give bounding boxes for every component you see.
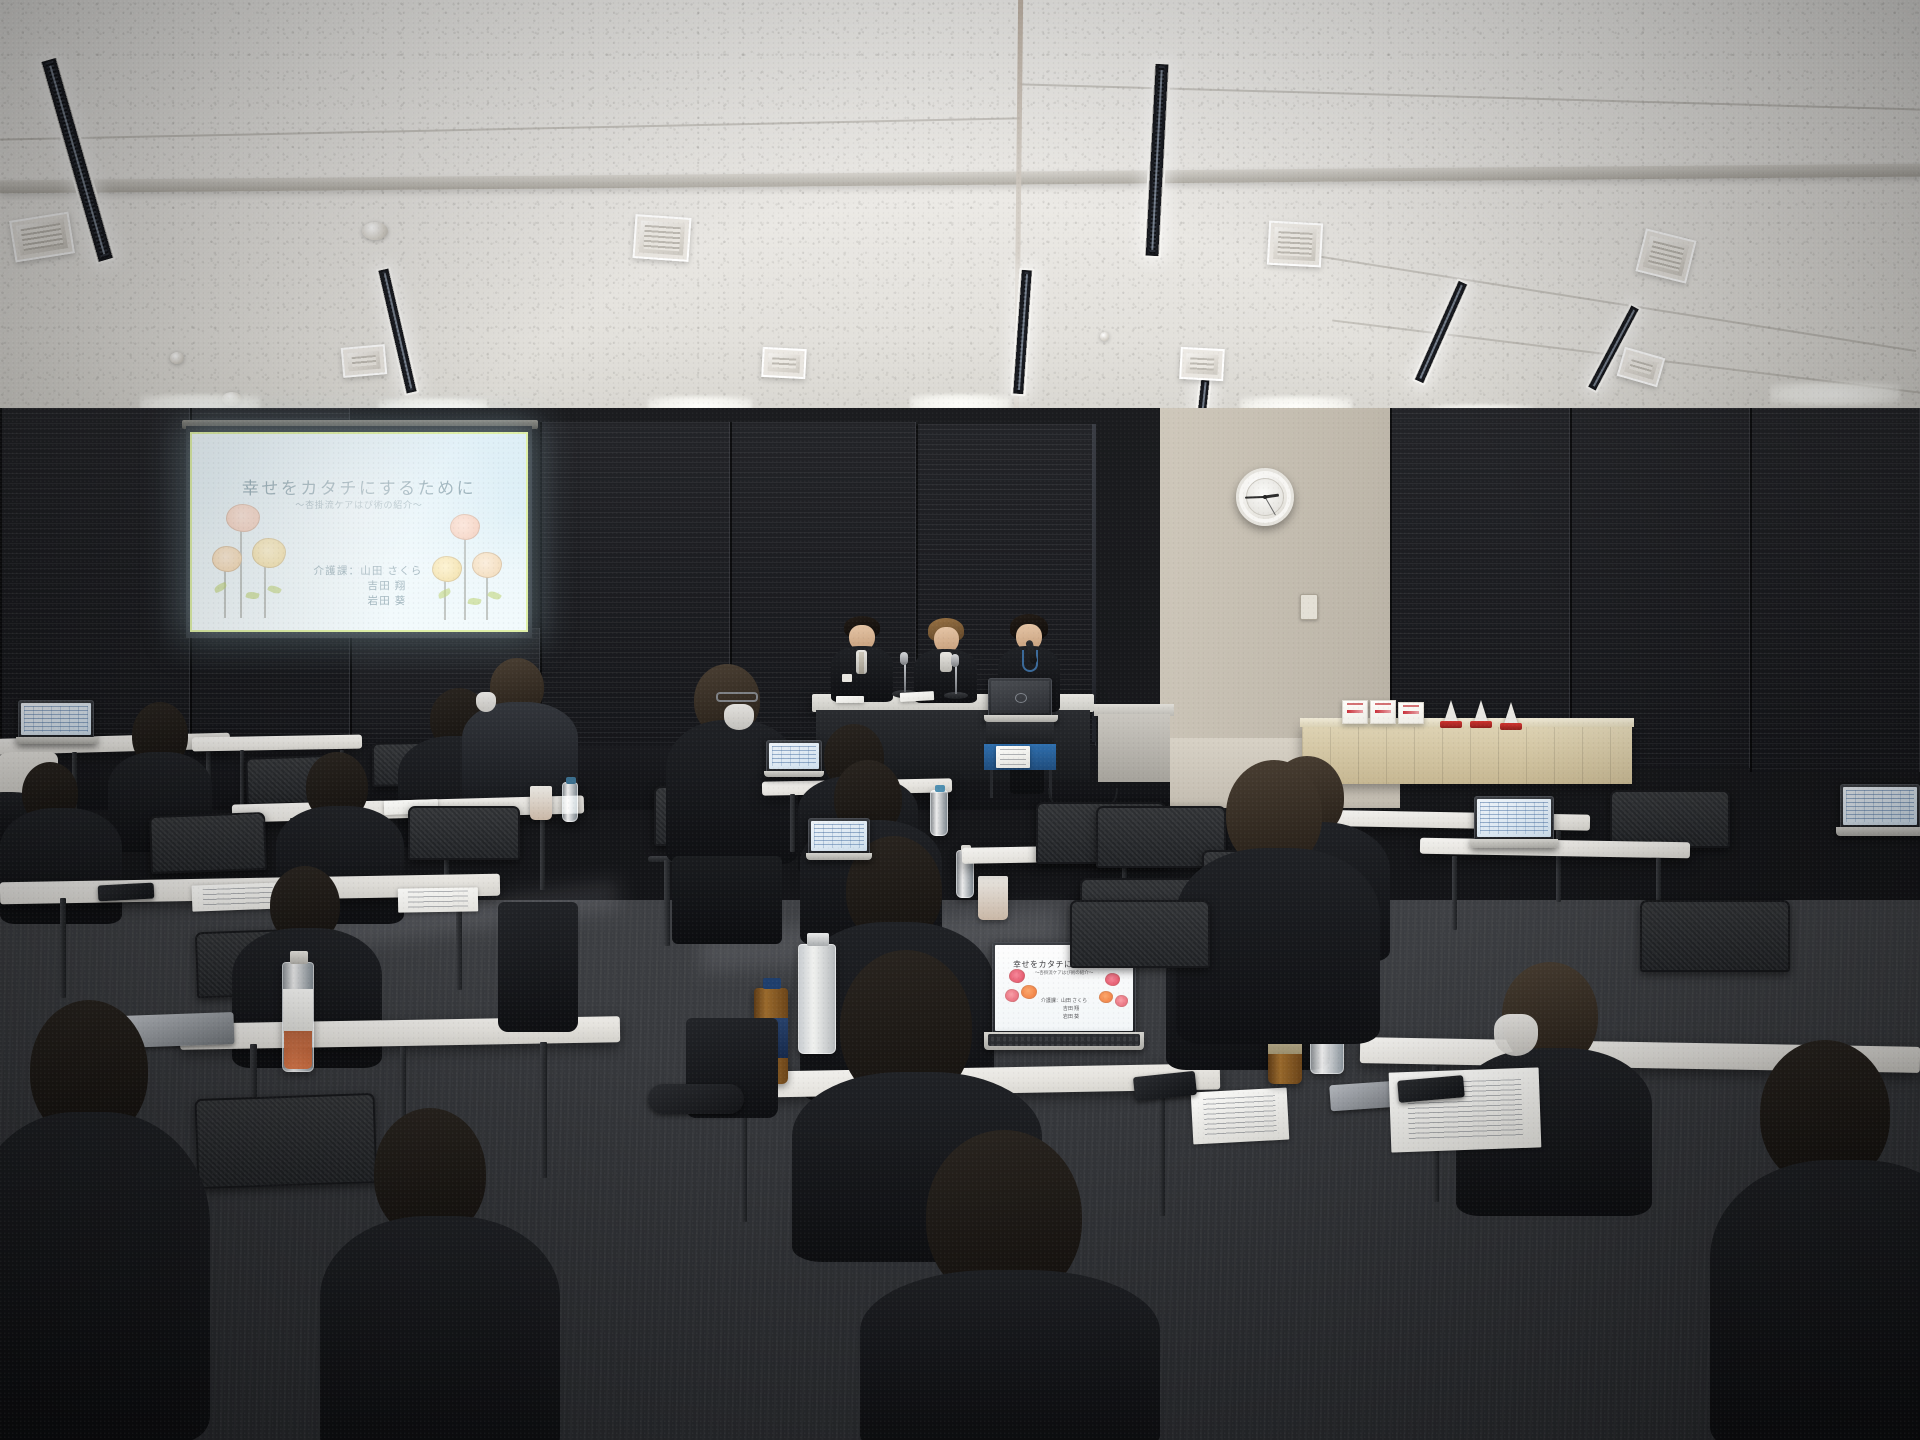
attendee-chair (1640, 900, 1790, 972)
laptop-screen (1843, 787, 1917, 825)
laptop-screen-spreadsheet (21, 703, 91, 735)
laptop-screen-spreadsheet (1477, 799, 1551, 837)
attendee-laptop (806, 818, 872, 860)
laptop-base (16, 737, 98, 744)
laptop-slide-rose (1099, 991, 1113, 1003)
table-leg (60, 898, 66, 998)
laptop-stand-box (986, 722, 1054, 746)
trophy-base (1500, 723, 1522, 730)
flower-bloom-pink (226, 504, 260, 532)
laptop-base (1836, 827, 1920, 836)
hp-logo (1015, 693, 1027, 703)
face-mask (724, 704, 754, 730)
side-counter-body (1098, 714, 1170, 782)
laptop-lid (1840, 784, 1920, 828)
bottle-cap (566, 777, 576, 784)
table-leg (240, 750, 244, 812)
conference-room-photo: 幸せをカタチにするために ～杏掛流ケアはぴ術の紹介～ 介護課：山田 さくら 吉田… (0, 0, 1920, 1440)
flower-leaf (467, 597, 481, 607)
laptop-screen (811, 821, 867, 851)
panel-handout (900, 691, 934, 702)
lanyard-badge (842, 674, 852, 682)
certificate-ribbon (1403, 711, 1420, 714)
flower-leaf (487, 589, 502, 601)
microphone-head (900, 652, 908, 665)
laptop-slide-rose (1115, 995, 1128, 1007)
laptop-slide-rose (1021, 985, 1037, 999)
attendee-chair (1070, 900, 1210, 968)
cable-on-floor (648, 1084, 744, 1114)
handout-paper (398, 887, 478, 912)
attendee-chair (408, 806, 520, 860)
bottle-label (283, 989, 313, 1033)
water-bottle (562, 782, 578, 822)
stand-document (996, 746, 1030, 768)
bottle-cap (807, 933, 829, 946)
sprinkler-head (1100, 332, 1109, 341)
flower-bloom-pink (450, 514, 480, 540)
table-leg (790, 794, 795, 852)
laptop-lid (1474, 796, 1554, 840)
attendee-laptop-right (1470, 796, 1558, 848)
necktie (859, 652, 864, 674)
flower-leaf (213, 582, 228, 593)
award-certificate (1342, 700, 1368, 724)
flower-bloom-peach (472, 552, 502, 578)
laptop-slide-rose (1105, 973, 1120, 986)
certificate-ribbon (1347, 710, 1364, 713)
hvac-diffuser (633, 214, 692, 262)
laptop-lid (988, 678, 1052, 716)
presenter-laptop (984, 678, 1058, 722)
table-leg (1452, 856, 1457, 930)
microphone-stand (955, 664, 957, 694)
wall-slat-panel (1570, 408, 1750, 768)
eyeglasses-case (98, 883, 155, 902)
attendee-chair (1610, 790, 1730, 848)
plastic-drink-bottle (282, 962, 314, 1072)
trophy-cone (1474, 700, 1488, 722)
attendee-laptop (16, 700, 98, 744)
flower-leaf (245, 591, 259, 601)
ceiling-light-glow (1770, 382, 1900, 406)
hvac-diffuser (761, 347, 807, 379)
hvac-diffuser (1267, 221, 1323, 268)
attendee-foreground-center-2 (880, 1130, 1140, 1440)
laptop-base (1470, 839, 1558, 848)
backpack-on-floor (498, 902, 578, 1032)
laptop-base (806, 853, 872, 860)
wall-clock (1236, 468, 1294, 526)
light-switch-plate (1300, 594, 1318, 620)
clock-center-pin (1263, 495, 1267, 499)
paper-cup (530, 786, 552, 820)
presenter-seated-left (828, 616, 900, 698)
panel-handout (836, 696, 864, 703)
slide-flower-cluster-left (202, 500, 312, 620)
award-certificate (1370, 700, 1396, 724)
table-leg (1158, 1090, 1165, 1216)
eyeglasses (716, 692, 758, 702)
attendee-chair (149, 812, 267, 874)
flower-bloom-yellow (432, 556, 462, 582)
attendee-table (192, 735, 362, 752)
smoke-detector (170, 352, 184, 364)
attendee-legs (672, 856, 782, 944)
laptop-lid (808, 818, 870, 854)
torso (860, 1270, 1160, 1440)
laptop-stand-legs (990, 770, 1052, 798)
torso (0, 1112, 210, 1440)
bottle-cap (763, 978, 781, 989)
trophy-cone (1444, 700, 1458, 722)
attendee-laptop-far-right (1836, 784, 1920, 836)
flower-leaf (267, 584, 282, 596)
ceiling (0, 0, 1920, 432)
wall-slat-panel (1750, 408, 1920, 772)
wall-slat-panel (0, 408, 190, 748)
torso (462, 702, 578, 808)
laptop-base (984, 715, 1058, 722)
ceiling-speaker (362, 222, 388, 240)
trophy-base (1470, 721, 1492, 728)
torso (320, 1216, 560, 1440)
trophy-cone (1504, 702, 1518, 724)
handout-paper (1191, 1088, 1290, 1145)
certificate-ribbon (1375, 710, 1392, 713)
bottle-liquid (284, 1031, 312, 1069)
torso (1710, 1160, 1920, 1440)
slide-flower-cluster-right (430, 512, 526, 624)
face-mask (476, 692, 496, 712)
laptop-lid (18, 700, 94, 738)
presenter-seated-center (912, 618, 984, 698)
microphone-head (951, 654, 959, 667)
face-mask (1494, 1014, 1538, 1056)
hvac-diffuser (341, 344, 387, 378)
projector-screen: 幸せをカタチにするために ～杏掛流ケアはぴ術の紹介～ 介護課：山田 さくら 吉田… (190, 432, 528, 632)
attendee-right-edge (1740, 1040, 1920, 1440)
hvac-diffuser (1179, 347, 1225, 381)
bottle-cap (290, 951, 308, 964)
award-certificate (1398, 702, 1424, 724)
attendee-suit-grey-hair (462, 658, 578, 808)
flower-stem (240, 522, 242, 618)
attendee-foreground-left (0, 1000, 200, 1440)
chair-leg (664, 860, 670, 946)
slide-title: 幸せをカタチにするために (192, 474, 526, 499)
trophy-base (1440, 721, 1462, 728)
table-leg (540, 812, 545, 890)
flower-bloom-peach (212, 546, 242, 572)
flower-bloom-yellow (252, 538, 286, 568)
microphone-stand (904, 662, 906, 692)
flower-stem (464, 532, 466, 620)
attendee-foreground-left-2 (330, 1108, 550, 1440)
